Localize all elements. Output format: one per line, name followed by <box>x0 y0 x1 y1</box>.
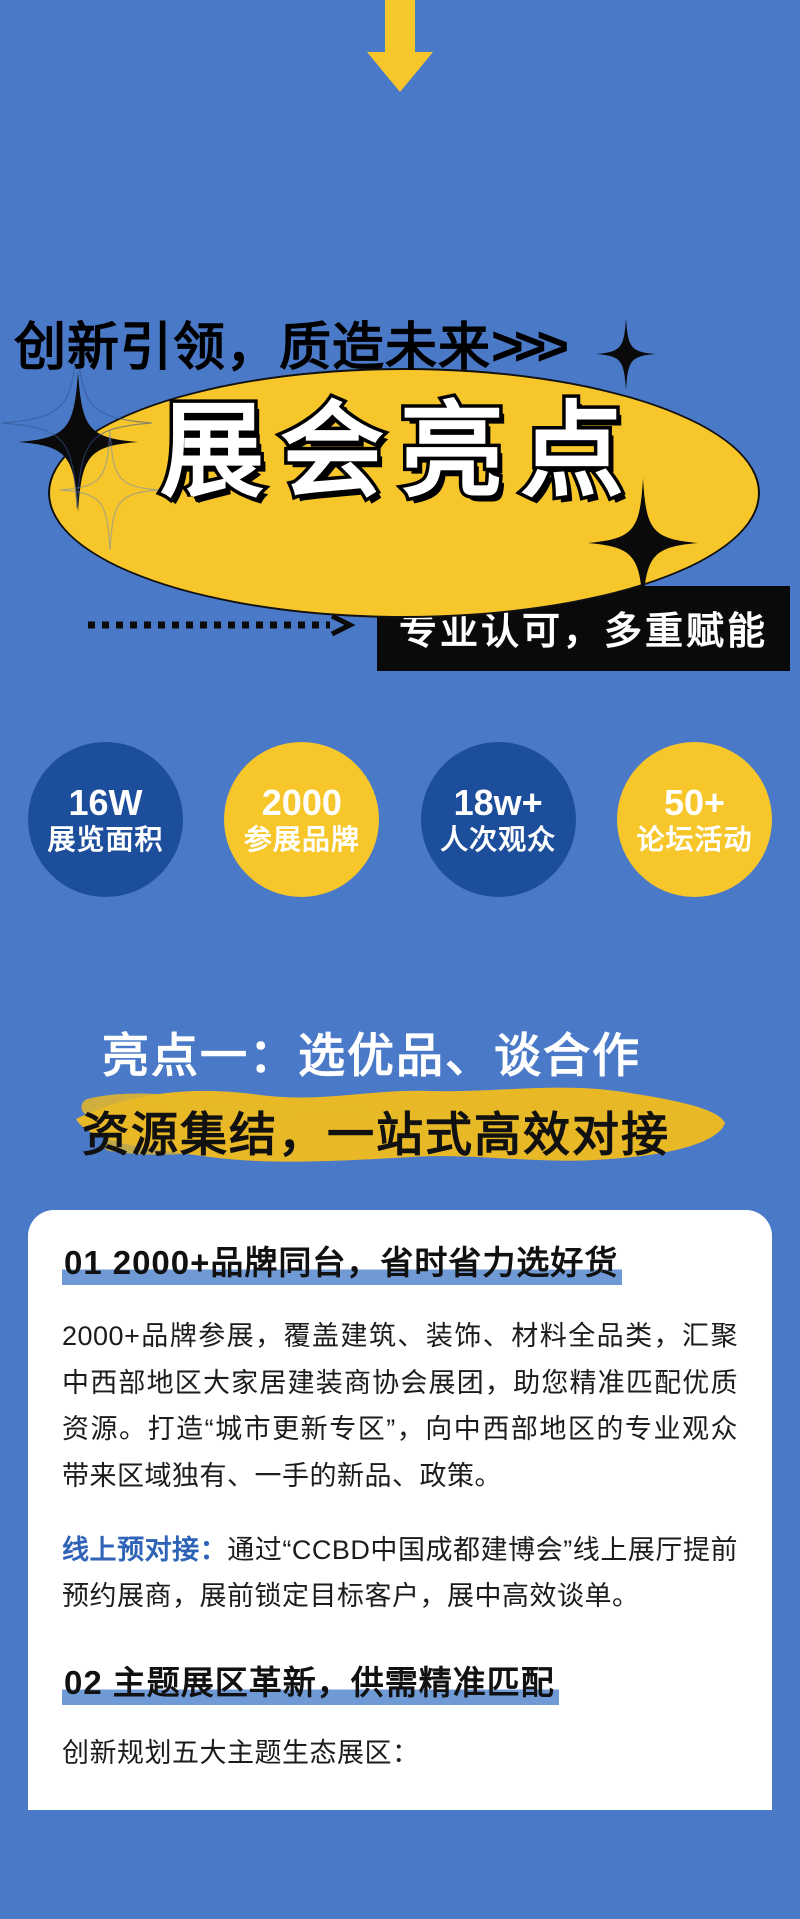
section-heading: 亮点一：选优品、谈合作 资源集结，一站式高效对接 <box>0 1017 800 1192</box>
card-item2-body: 创新规划五大主题生态展区： <box>62 1731 738 1770</box>
card-item1-body: 2000+品牌参展，覆盖建筑、装饰、材料全品类，汇聚中西部地区大家居建装商协会展… <box>62 1313 738 1499</box>
stat-label: 论坛活动 <box>636 823 752 857</box>
section-heading-line1: 亮点一：选优品、谈合作 <box>40 1017 760 1086</box>
stat-number: 2000 <box>262 782 342 823</box>
stat-number: 16W <box>68 782 142 823</box>
stat-label: 参展品牌 <box>244 823 360 857</box>
stat-label: 人次观众 <box>440 823 556 857</box>
card-item2-heading-text: 主题展区革新，供需精准匹配 <box>113 1664 555 1701</box>
card-item2-heading: 02主题展区革新，供需精准匹配 <box>62 1660 559 1705</box>
down-arrow-icon <box>355 0 445 95</box>
card-item1-link-paragraph: 线上预对接：通过“CCBD中国成都建博会”线上展厅提前预约展商，展前锁定目标客户… <box>62 1527 738 1620</box>
card-item1-heading: 012000+品牌同台，省时省力选好货 <box>62 1240 622 1285</box>
dotted-arrow-icon <box>88 614 358 636</box>
stat-circle-visitors: 18w+ 人次观众 <box>421 742 576 897</box>
stat-circle-brands: 2000 参展品牌 <box>224 742 379 897</box>
stat-label: 展览面积 <box>47 823 163 857</box>
hero-title: 展会亮点 <box>0 400 800 504</box>
stat-number: 50+ <box>664 782 725 823</box>
stats-row: 16W 展览面积 2000 参展品牌 18w+ 人次观众 50+ 论坛活动 <box>0 678 800 897</box>
hero-kicker: 创新引领，质造未来>>> <box>14 305 559 380</box>
hero-section: 创新引领，质造未来>>> 展会亮点 <box>0 100 800 580</box>
stat-circle-area: 16W 展览面积 <box>28 742 183 897</box>
card-item1-number: 01 <box>64 1244 103 1281</box>
sparkle-icon-top-right <box>596 318 656 390</box>
top-arrow-container <box>0 0 800 100</box>
content-card: 012000+品牌同台，省时省力选好货 2000+品牌参展，覆盖建筑、装饰、材料… <box>28 1210 772 1810</box>
hero-kicker-text: 创新引领，质造未来 <box>14 319 491 377</box>
hero-chevrons: >>> <box>491 314 559 377</box>
section-heading-line2: 资源集结，一站式高效对接 <box>40 1096 760 1165</box>
stat-circle-forums: 50+ 论坛活动 <box>617 742 772 897</box>
card-item1-heading-text: 2000+品牌同台，省时省力选好货 <box>113 1244 619 1281</box>
stat-number: 18w+ <box>454 782 543 823</box>
card-item2-number: 02 <box>64 1664 103 1701</box>
card-item1-link-label: 线上预对接： <box>62 1535 227 1565</box>
